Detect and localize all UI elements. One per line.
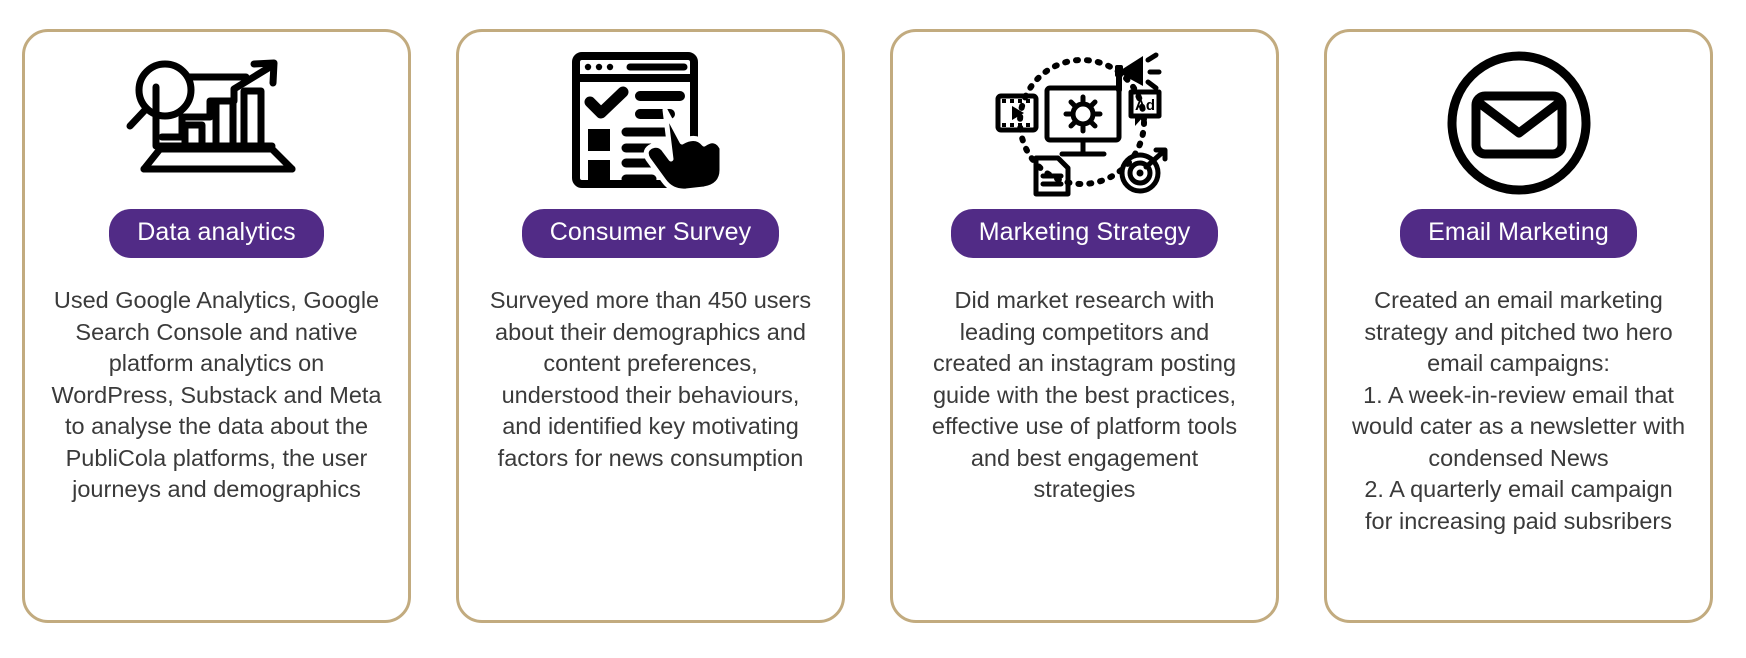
badge-email-marketing[interactable]: Email Marketing bbox=[1400, 209, 1637, 258]
card-body-marketing-strategy: Did market research with leading competi… bbox=[918, 285, 1252, 506]
card-body-email-marketing: Created an email marketing strategy and … bbox=[1349, 285, 1689, 537]
marketing-strategy-icon: Ad bbox=[893, 32, 1276, 207]
svg-text:Ad: Ad bbox=[1135, 97, 1155, 114]
cards-board: Data analytics Used Google Analytics, Go… bbox=[0, 0, 1746, 658]
card-data-analytics[interactable]: Data analytics Used Google Analytics, Go… bbox=[22, 29, 411, 623]
card-body-data-analytics: Used Google Analytics, Google Search Con… bbox=[50, 285, 384, 506]
badge-marketing-strategy[interactable]: Marketing Strategy bbox=[951, 209, 1219, 258]
card-marketing-strategy[interactable]: Ad bbox=[890, 29, 1279, 623]
badge-data-analytics[interactable]: Data analytics bbox=[109, 209, 323, 258]
badge-consumer-survey[interactable]: Consumer Survey bbox=[522, 209, 780, 258]
consumer-survey-icon bbox=[459, 32, 842, 207]
data-analytics-icon bbox=[25, 32, 408, 207]
card-consumer-survey[interactable]: Consumer Survey Surveyed more than 450 u… bbox=[456, 29, 845, 623]
email-marketing-icon bbox=[1327, 32, 1710, 207]
card-email-marketing[interactable]: Email Marketing Created an email marketi… bbox=[1324, 29, 1713, 623]
card-body-consumer-survey: Surveyed more than 450 users about their… bbox=[484, 285, 818, 474]
